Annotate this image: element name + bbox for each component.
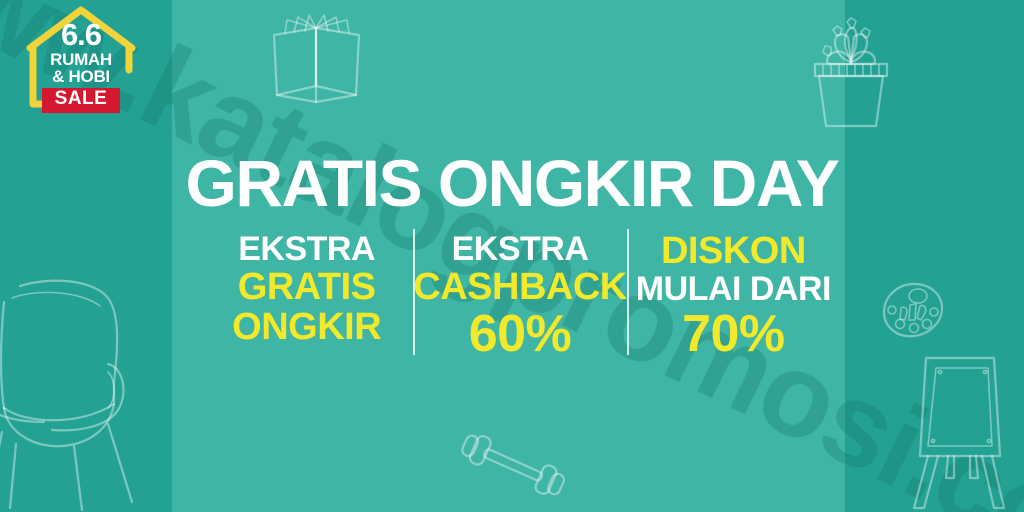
promo-diskon: DISKON MULAI DARI 70%: [627, 232, 840, 362]
logo-line-two: & HOBI: [52, 68, 110, 85]
promo-line: EKSTRA: [452, 232, 589, 266]
promo-line: ONGKIR: [232, 308, 381, 346]
promo-line: EKSTRA: [238, 232, 375, 266]
logo-sale-badge: SALE: [42, 88, 121, 113]
promo-line: GRATIS: [238, 268, 376, 306]
promo-value: 60%: [469, 308, 572, 360]
background-band-right: [845, 0, 1024, 512]
promo-line: MULAI DARI: [636, 272, 831, 306]
logo-date: 6.6: [61, 21, 101, 50]
promo-value: 70%: [682, 308, 785, 360]
campaign-logo: 6.6 RUMAH & HOBI SALE: [22, 4, 140, 112]
headline-title: GRATIS ONGKIR DAY: [0, 150, 1024, 216]
promo-gratis-ongkir: EKSTRA GRATIS ONGKIR: [200, 232, 413, 362]
promo-line: DISKON: [661, 232, 806, 270]
logo-line-one: RUMAH: [50, 51, 112, 68]
promo-line: CASHBACK: [413, 268, 626, 306]
promo-column-group: EKSTRA GRATIS ONGKIR EKSTRA CASHBACK 60%…: [200, 232, 840, 362]
promo-cashback: EKSTRA CASHBACK 60%: [413, 232, 626, 362]
promo-banner: www.katalogpromosi.com: [0, 0, 1024, 512]
